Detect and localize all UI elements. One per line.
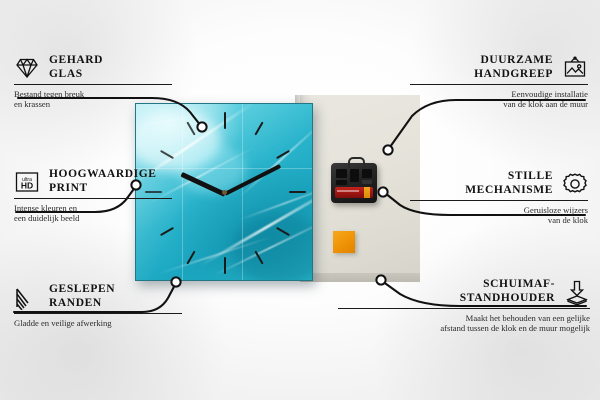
mechanism-hanging-hook	[348, 157, 365, 168]
gear-icon	[562, 171, 588, 197]
feature-stille-mechanisme: STILLE MECHANISME Geruisloze wijzers van…	[410, 170, 588, 226]
feature-description: Bestand tegen breuk en krassen	[14, 89, 179, 110]
mechanism-slot	[350, 169, 359, 182]
feature-gehard-glas: GEHARD GLAS Bestand tegen breuk en krass…	[14, 54, 179, 110]
feature-header: STILLE MECHANISME	[410, 170, 588, 197]
mechanism-slot	[362, 169, 372, 178]
feature-geslepen-randen: GESLEPEN RANDEN Gladde en veilige afwerk…	[14, 283, 189, 328]
clock-tick-3	[289, 191, 306, 193]
feature-title: STILLE MECHANISME	[465, 170, 553, 197]
mechanism-label	[362, 180, 372, 184]
battery-print	[337, 190, 359, 192]
clock-tick-6	[224, 257, 226, 274]
feature-header: GEHARD GLAS	[14, 54, 179, 81]
feature-title: DUURZAME HANDGREEP	[474, 54, 553, 81]
feature-title: GEHARD GLAS	[49, 54, 103, 81]
product-infographic: GEHARD GLAS Bestand tegen breuk en krass…	[0, 0, 600, 400]
feature-description: Geruisloze wijzers van de klok	[410, 205, 588, 226]
feature-divider	[410, 200, 588, 201]
feature-hoogwaardige-print: ultra HD HOOGWAARDIGE PRINT Intense kleu…	[14, 168, 179, 224]
clock-tick-12	[224, 112, 226, 129]
feature-divider	[14, 84, 172, 85]
feature-description: Eenvoudige installatie van de klok aan d…	[410, 89, 588, 110]
feature-divider	[338, 308, 590, 309]
foam-spacer-pad	[333, 231, 355, 253]
bevelled-edges-icon	[14, 284, 40, 310]
feature-title: GESLEPEN RANDEN	[49, 283, 115, 310]
feature-title: HOOGWAARDIGE PRINT	[49, 168, 157, 195]
feature-header: SCHUIMAF- STANDHOUDER	[338, 278, 590, 305]
mechanism-slot	[336, 180, 347, 185]
svg-text:HD: HD	[21, 180, 33, 190]
feature-description: Gladde en veilige afwerking	[14, 318, 189, 329]
feature-divider	[14, 313, 182, 314]
feature-header: DUURZAME HANDGREEP	[410, 54, 588, 81]
feature-description: Intense kleuren en een duidelijk beeld	[14, 203, 179, 224]
mechanism-slot	[336, 169, 347, 178]
diamond-icon	[14, 55, 40, 81]
feature-header: GESLEPEN RANDEN	[14, 283, 189, 310]
picture-frame-icon	[562, 55, 588, 81]
clock-mechanism	[331, 163, 377, 203]
feature-divider	[14, 198, 172, 199]
feature-title: SCHUIMAF- STANDHOUDER	[460, 278, 555, 305]
foam-spacer-icon	[564, 279, 590, 305]
feature-schuimaf-standhouder: SCHUIMAF- STANDHOUDER Maakt het behouden…	[338, 278, 590, 334]
feature-header: ultra HD HOOGWAARDIGE PRINT	[14, 168, 179, 195]
feature-description: Maakt het behouden van een gelijke afsta…	[338, 313, 590, 334]
ultra-hd-icon: ultra HD	[14, 169, 40, 195]
clock-center-pin	[222, 190, 227, 195]
battery-positive-cap	[364, 187, 370, 198]
feature-divider	[410, 84, 588, 85]
feature-duurzame-handgreep: DUURZAME HANDGREEP Eenvoudige installati…	[410, 54, 588, 110]
